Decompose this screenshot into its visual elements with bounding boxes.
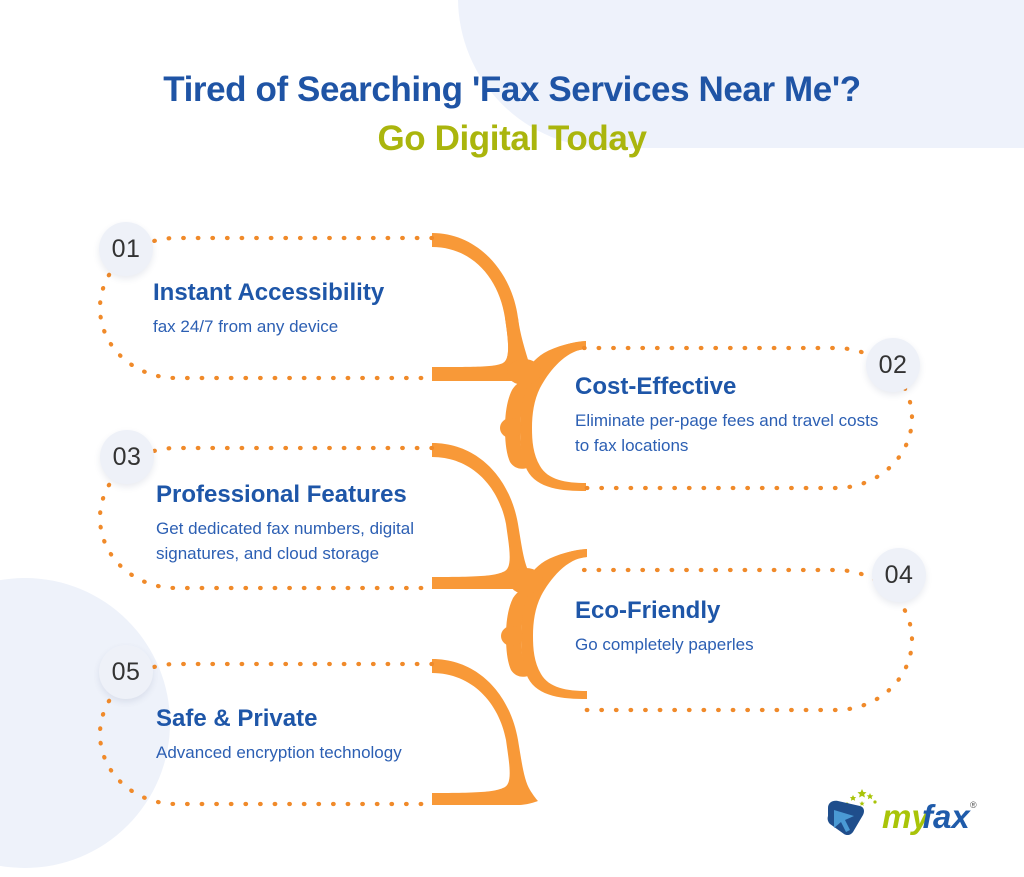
page-title-line1: Tired of Searching 'Fax Services Near Me…: [0, 66, 1024, 114]
badge-03-number: 03: [113, 445, 142, 470]
badge-03[interactable]: 03: [100, 430, 154, 484]
myfax-cursor-icon: [828, 789, 877, 835]
card-02-title: Cost-Effective: [575, 372, 895, 402]
infographic-canvas: Tired of Searching 'Fax Services Near Me…: [0, 0, 1024, 877]
card-02-text: Cost-Effective Eliminate per-page fees a…: [575, 372, 895, 458]
card-01-title: Instant Accessibility: [153, 278, 443, 308]
card-03-text: Professional Features Get dedicated fax …: [156, 480, 476, 566]
card-03-desc: Get dedicated fax numbers, digital signa…: [156, 516, 471, 566]
badge-05[interactable]: 05: [99, 645, 153, 699]
card-04-desc: Go completely paperles: [575, 632, 895, 657]
logo-registered-mark: ®: [970, 800, 977, 810]
page-title-line2: Go Digital Today: [0, 114, 1024, 164]
card-05-text: Safe & Private Advanced encryption techn…: [156, 704, 476, 765]
badge-01[interactable]: 01: [99, 222, 153, 276]
card-05-title: Safe & Private: [156, 704, 476, 734]
card-04[interactable]: Eco-Friendly Go completely paperles: [578, 564, 918, 716]
card-04-title: Eco-Friendly: [575, 596, 895, 626]
card-05-desc: Advanced encryption technology: [156, 740, 476, 765]
card-01-desc: fax 24/7 from any device: [153, 314, 443, 339]
badge-01-number: 01: [112, 237, 141, 262]
card-04-text: Eco-Friendly Go completely paperles: [575, 596, 895, 657]
badge-04-number: 04: [885, 563, 914, 588]
badge-02[interactable]: 02: [866, 338, 920, 392]
badge-04[interactable]: 04: [872, 548, 926, 602]
logo-text-fax: fax: [922, 798, 971, 835]
card-01-text: Instant Accessibility fax 24/7 from any …: [153, 278, 443, 339]
card-02-desc: Eliminate per-page fees and travel costs…: [575, 408, 895, 458]
myfax-logo[interactable]: my fax ®: [820, 786, 980, 842]
badge-05-number: 05: [112, 660, 141, 685]
header: Tired of Searching 'Fax Services Near Me…: [0, 66, 1024, 164]
badge-02-number: 02: [879, 353, 908, 378]
card-03-title: Professional Features: [156, 480, 476, 510]
